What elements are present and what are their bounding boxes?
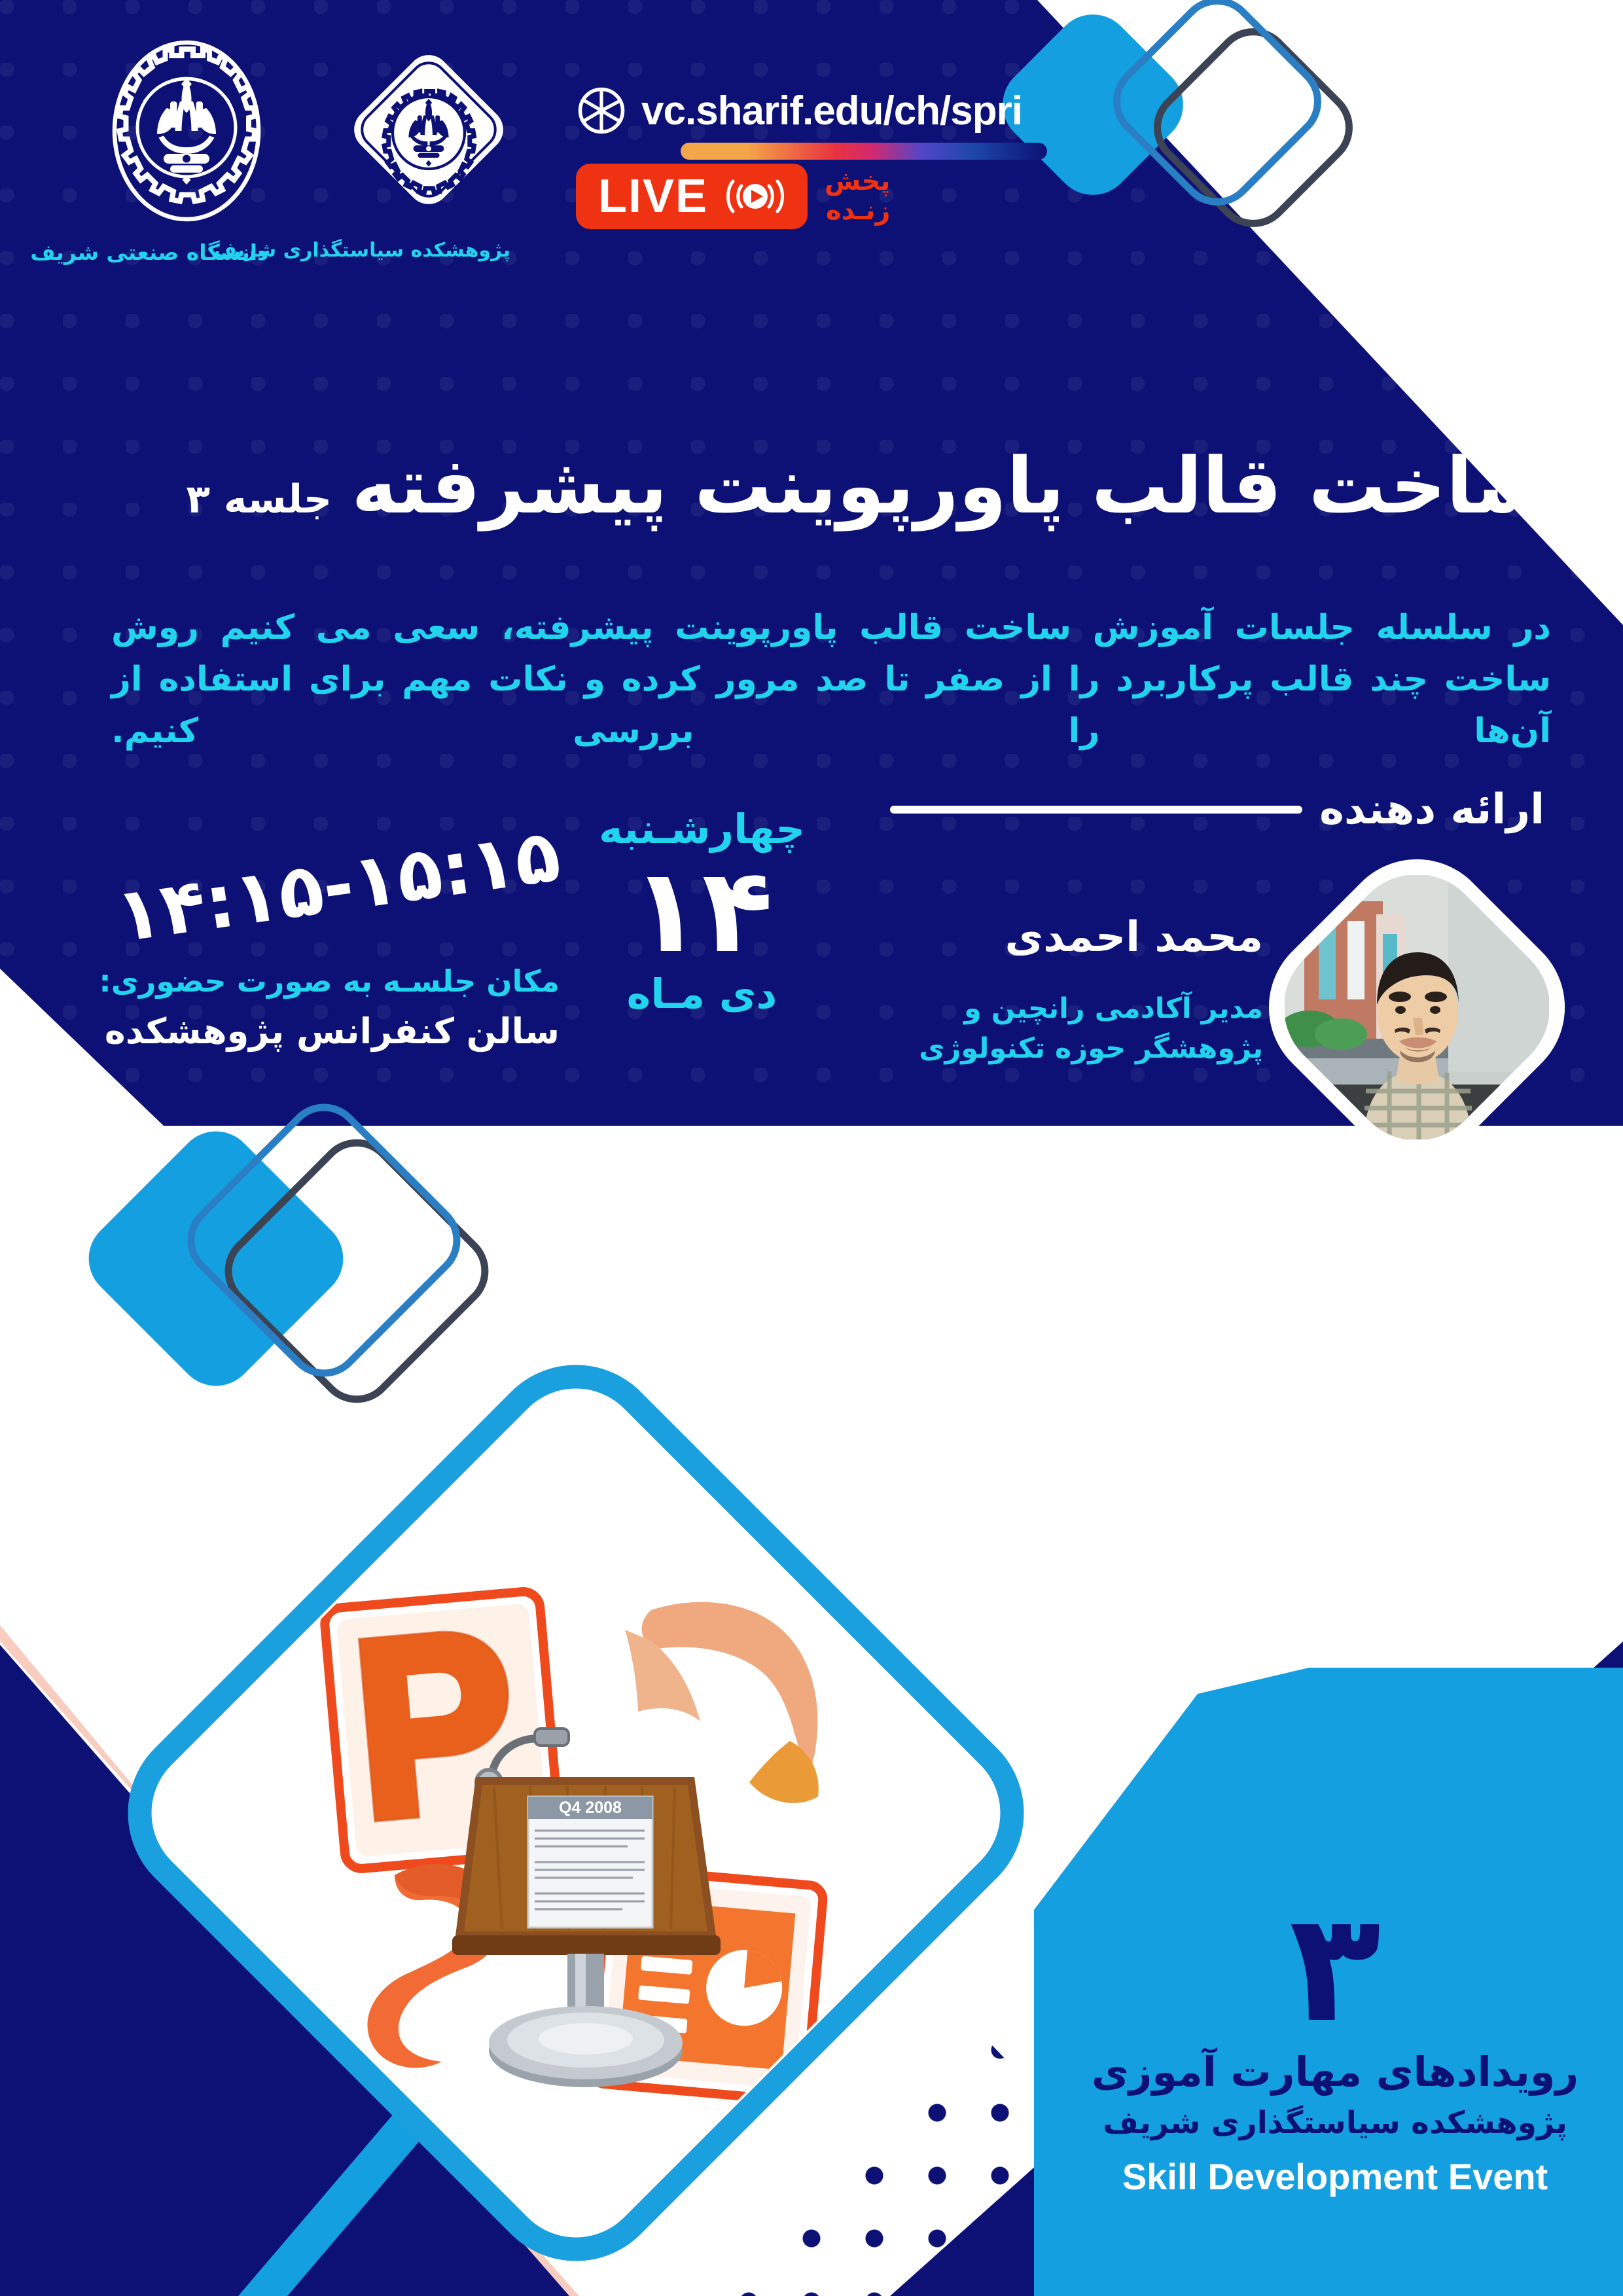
live-label: LIVE <box>598 173 708 220</box>
date-column: چهارشـنبه ۱۴ دی مـاه <box>599 805 805 1018</box>
live-label-farsi-line2: زنـده <box>825 196 890 226</box>
month-label: دی مـاه <box>599 970 805 1018</box>
presenter-name: محمد احمدی <box>919 912 1263 963</box>
slide-label: Q4 2008 <box>559 1799 622 1817</box>
day-number: ۱۴ <box>599 855 805 967</box>
presenter-role-line1: مدیر آکادمی رانچین و <box>919 989 1263 1029</box>
badge-title: رویدادهای مهارت آموزی <box>1086 2048 1584 2096</box>
date-time-block: چهارشـنبه ۱۴ دی مـاه ۱۴:۱۵-۱۵:۱۵ مکان جل… <box>52 805 805 1052</box>
broadcast-play-icon <box>725 176 785 217</box>
poster-header: دانشگاه صنعتی شریف <box>0 0 1623 308</box>
presenter-block: ارائه دهنده <box>890 785 1544 1135</box>
spri-caption: پژوهشکده سیاستگذاری شریف <box>347 238 510 263</box>
sharif-university-logo-block: دانشگاه صنعتی شریف <box>105 36 268 266</box>
place-value: سالن کنفرانس پژوهشکده <box>99 1011 560 1052</box>
title-block: ساخت قالب پاورپوینت پیشرفته جلسه ۳ در سل… <box>59 393 1551 791</box>
sharif-policy-research-institute-logo <box>347 41 510 225</box>
presenter-portrait <box>1285 875 1549 1139</box>
time-and-place-column: ۱۴:۱۵-۱۵:۱۵ مکان جلسـه به صورت حضوری: سا… <box>99 805 560 1052</box>
page-title: ساخت قالب پاورپوینت پیشرفته <box>351 444 1551 528</box>
url-gradient-underline <box>681 143 1047 160</box>
time-range: ۱۴:۱۵-۱۵:۱۵ <box>98 819 564 956</box>
presenter-label: ارائه دهنده <box>1319 785 1544 834</box>
badge-content: ۳ رویدادهای مهارت آموزی پژوهشکده سیاستگذ… <box>1086 1905 1584 2198</box>
live-label-farsi: پخش زنـده <box>825 167 890 226</box>
presenter-role-line2: پژوهشگر حوزه تکنولوژی <box>919 1029 1263 1069</box>
presenter-role: مدیر آکادمی رانچین و پژوهشگر حوزه تکنولو… <box>919 989 1263 1069</box>
badge-subtitle: پژوهشکده سیاستگذاری شریف <box>1086 2105 1584 2141</box>
badge-english-title: Skill Development Event <box>1086 2155 1584 2198</box>
stream-url-text[interactable]: vc.sharif.edu/ch/spri <box>641 88 1022 134</box>
presenter-divider <box>890 806 1302 814</box>
avatar <box>1236 827 1597 1188</box>
badge-session-number: ۳ <box>1086 1905 1584 2033</box>
stream-url-block[interactable]: vc.sharif.edu/ch/spri <box>576 85 1047 160</box>
spri-logo-block: پژوهشکده سیاستگذاری شریف <box>347 41 510 263</box>
sharif-university-gear-logo <box>105 36 268 226</box>
session-tag: جلسه ۳ <box>186 476 332 522</box>
live-stream-row: LIVE پخش زنـده <box>576 164 890 229</box>
live-label-farsi-line1: پخش <box>825 167 890 196</box>
place-label: مکان جلسـه به صورت حضوری: <box>99 963 560 999</box>
event-poster: دانشگاه صنعتی شریف <box>0 0 1623 2296</box>
globe-icon <box>576 85 627 136</box>
event-description: در سلسله جلسات آموزش ساخت قالب پاورپوینت… <box>111 602 1551 757</box>
live-badge[interactable]: LIVE <box>576 164 808 229</box>
